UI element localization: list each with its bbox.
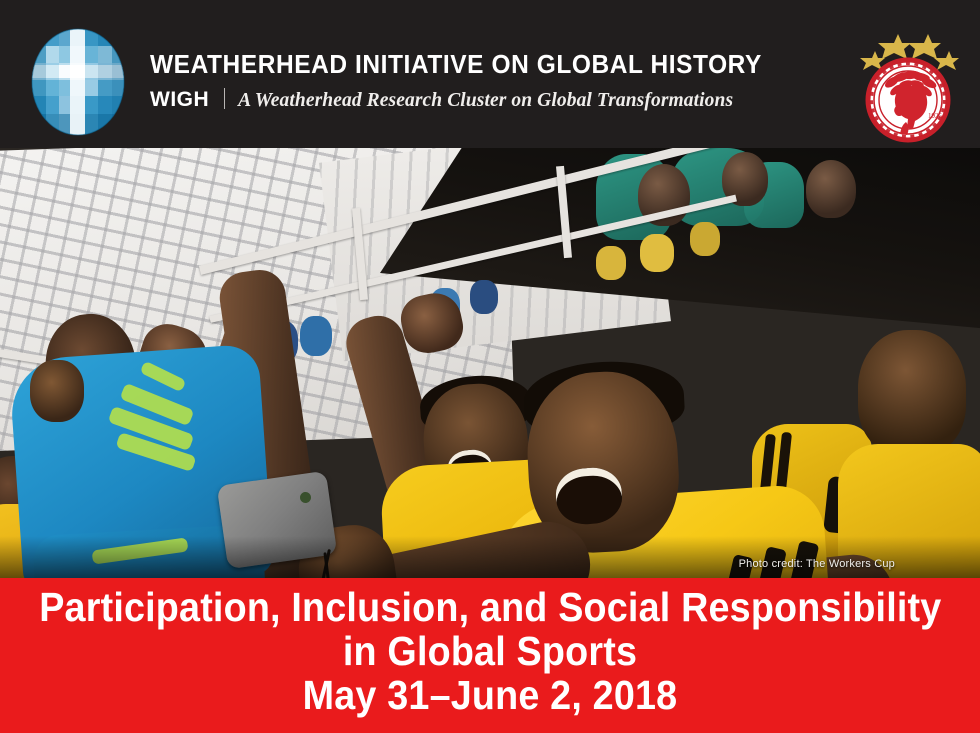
wigh-wordmark: WEATHERHEAD INITIATIVE ON GLOBAL HISTORY… [150, 52, 750, 112]
wigh-globe-icon [30, 27, 126, 137]
distant-spectator [596, 246, 626, 280]
wigh-title: WEATHERHEAD INITIATIVE ON GLOBAL HISTORY [150, 52, 726, 79]
photo-bottom-shadow [0, 536, 980, 578]
seated-player-head [858, 330, 966, 456]
distant-spectator [690, 222, 720, 256]
event-title-line-1: Participation, Inclusion, and Social Res… [39, 578, 941, 628]
event-photo: Photo credit: The Workers Cup [0, 148, 980, 578]
header-bar: WEATHERHEAD INITIATIVE ON GLOBAL HISTORY… [0, 0, 980, 148]
wigh-divider [224, 88, 225, 109]
tracksuit-man-hand [30, 360, 84, 422]
title-banner: Participation, Inclusion, and Social Res… [0, 578, 980, 733]
distant-spectator [640, 234, 674, 272]
background-spectator-head [806, 160, 856, 218]
distant-spectator [470, 280, 498, 314]
wigh-abbreviation: WIGH [150, 88, 209, 112]
wigh-tagline: A Weatherhead Research Cluster on Global… [238, 90, 733, 112]
distant-spectator [300, 316, 332, 356]
svg-text:1925: 1925 [928, 112, 943, 120]
event-poster: WEATHERHEAD INITIATIVE ON GLOBAL HISTORY… [0, 0, 980, 733]
event-title-line-2: in Global Sports [39, 628, 941, 672]
photo-credit: Photo credit: The Workers Cup [739, 558, 895, 570]
wigh-subtitle-row: WIGH A Weatherhead Research Cluster on G… [150, 85, 750, 112]
olympiacos-crest-icon: 1925 [852, 18, 964, 144]
event-dates: May 31–June 2, 2018 [39, 672, 941, 716]
